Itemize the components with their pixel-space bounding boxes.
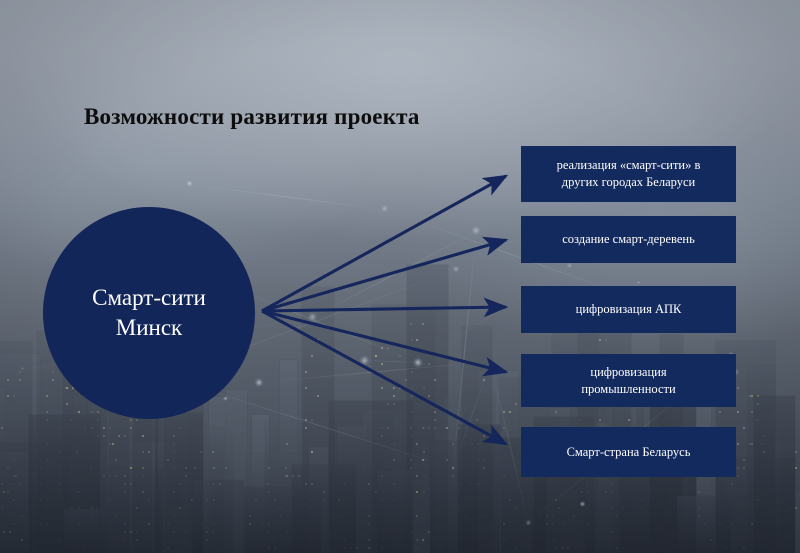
node-label-1: реализация «смарт-сити» в других городах… [557,157,701,191]
hub-label: Смарт-сити Минск [92,283,206,344]
node-label-4: цифровизация промышленности [581,364,675,398]
connector-3 [262,307,506,311]
slide-canvas: Возможности развития проекта Смарт-сити … [0,0,800,553]
node-box-1: реализация «смарт-сити» в других городах… [521,146,736,202]
node-label-2: создание смарт-деревень [562,231,695,248]
node-box-2: создание смарт-деревень [521,216,736,263]
hub-node: Смарт-сити Минск [43,207,255,419]
node-box-5: Смарт-страна Беларусь [521,427,736,477]
node-box-3: цифровизация АПК [521,286,736,333]
node-label-3: цифровизация АПК [576,301,682,318]
page-title: Возможности развития проекта [84,104,420,130]
connector-4 [262,311,506,372]
connector-2 [262,240,506,311]
node-label-5: Смарт-страна Беларусь [567,444,691,461]
node-box-4: цифровизация промышленности [521,354,736,407]
connector-5 [262,311,506,444]
connector-1 [262,176,506,311]
